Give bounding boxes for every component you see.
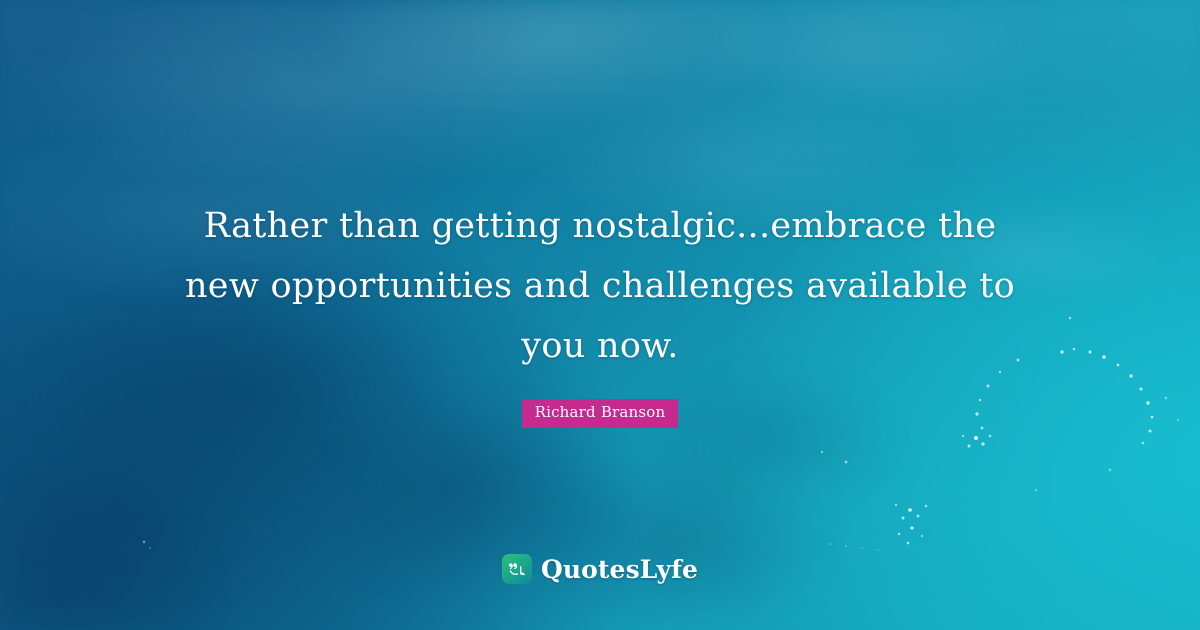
quote-line-3: you now. [0,316,1200,376]
quote-card: Rather than getting nostalgic...embrace … [0,0,1200,630]
brand-footer: QuotesLyfe [0,554,1200,584]
quote-text: Rather than getting nostalgic...embrace … [0,196,1200,376]
quoteslyfe-wordmark: QuotesLyfe [541,557,698,582]
quoteslyfe-logo-icon [502,554,532,584]
author-attribution: Richard Branson [0,399,1200,428]
author-name-badge: Richard Branson [522,399,679,428]
quote-line-2: new opportunities and challenges availab… [0,256,1200,316]
quote-line-1: Rather than getting nostalgic...embrace … [0,196,1200,256]
